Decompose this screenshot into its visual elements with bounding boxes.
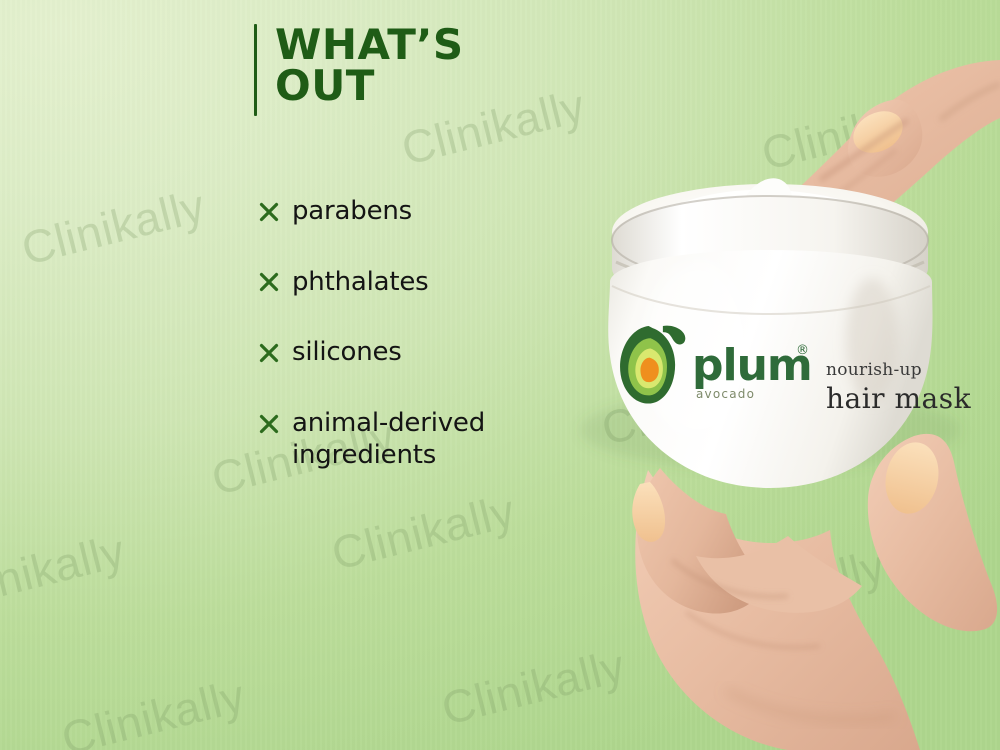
list-item-label: silicones xyxy=(292,337,402,369)
heading-line-2: OUT xyxy=(275,65,464,106)
page-title: WHAT’S OUT xyxy=(275,24,464,106)
brand-trademark: ® xyxy=(796,343,809,358)
excluded-ingredients-list: parabens phthalates silicones animal-der… xyxy=(257,196,557,472)
product-photo: plum ® avocado nourish-up hair mask xyxy=(520,0,1000,750)
cross-icon xyxy=(257,337,281,368)
heading-rule xyxy=(254,24,257,116)
brand-variant: avocado xyxy=(696,387,755,401)
cross-icon xyxy=(257,267,281,298)
product-title: hair mask xyxy=(826,382,972,415)
list-item-label: parabens xyxy=(292,196,412,228)
list-item-label: animal-derived ingredients xyxy=(292,408,557,471)
brand-name: plum xyxy=(692,340,812,391)
list-item-label: phthalates xyxy=(292,267,428,299)
list-item: animal-derived ingredients xyxy=(257,408,557,471)
list-item: phthalates xyxy=(257,267,557,299)
heading-block: WHAT’S OUT xyxy=(254,24,464,116)
heading-line-1: WHAT’S xyxy=(275,24,464,65)
cross-icon xyxy=(257,196,281,227)
list-item: silicones xyxy=(257,337,557,369)
list-item: parabens xyxy=(257,196,557,228)
poster-canvas: ClinikallyClinikallyClinikallyClinikally… xyxy=(0,0,1000,750)
copy-panel: WHAT’S OUT parabens phthalates xyxy=(0,0,560,750)
product-tagline: nourish-up xyxy=(826,360,922,380)
cross-icon xyxy=(257,408,281,439)
